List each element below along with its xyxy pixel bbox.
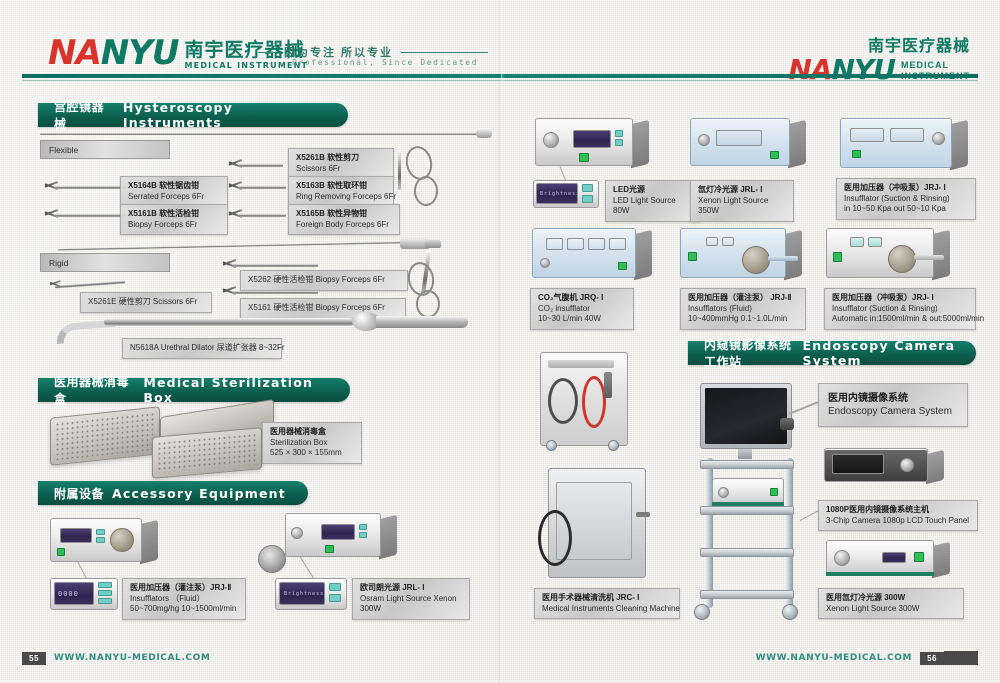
led-detail-btn2[interactable] [582,195,593,203]
label-1080p-cn: 1080P医用内镜摄像系统主机 [826,505,970,516]
device-xenon-knob[interactable] [698,134,710,146]
device-fluid2-screen2 [722,237,734,246]
device-fluid2-pump-drum[interactable] [742,246,770,274]
device-xenon300-side [932,542,950,578]
device-insufflator-power-led[interactable] [57,548,65,556]
label-suction2-cn: 医用加压器（冲吸泵）JRJ- I [832,293,968,304]
device-osram-btn2[interactable] [359,532,367,538]
device-osram-panel-detail: Brightness 100 [275,578,347,610]
label-n5618a: N5618A Urethral Dilator 尿道扩张器 8~32Fr [122,338,282,359]
instrument-shaft-rigid-biopsy2 [232,291,318,294]
handle-ring-lower3 [416,290,440,318]
rigid-scope-eyepiece [425,240,441,248]
label-cleaning-cn: 医用手术器械清洗机 JRC- I [542,593,672,604]
label-x5165b-en: Foreign Body Forceps 6Fr [296,220,392,231]
device-led-panel-detail: Brightness 100 [533,180,599,208]
flexible-scope-tip [476,129,492,138]
panel-detail-btn2[interactable] [98,590,112,596]
device-suction1-knob[interactable] [932,132,945,145]
label-suction2-spec: Automatic in:1500ml/min & out:5000ml/min [832,314,968,325]
label-led-en: LED Light Source [613,196,693,207]
label-cleaning-machine: 医用手术器械清洗机 JRC- I Medical Instruments Cle… [534,588,680,619]
camera-cart-camera-unit [712,478,784,506]
device-suction1-side [950,120,968,170]
osram-detail-screen: Brightness 100 [279,582,325,605]
page-gutter [498,0,504,683]
handle-arm-left [398,150,401,190]
device-xenon-light-source [690,118,790,166]
osram-brightness-label: Brightness [284,591,324,597]
cleaning-machine-hose [538,510,572,566]
label-sterilization-cn: 医用器械消毒盒 [270,427,354,438]
banner-cn-camera: 内窥镜影像系统工作站 [704,336,795,370]
sterilization-box-tray [152,427,262,479]
label-xenon-light-source: 氙灯冷光源 JRL- I Xenon Light Source 350W [690,180,794,222]
label-camera-system-cn: 医用内镜摄像系统 [828,392,958,405]
label-x5163b-en: Ring Removing Forceps 6Fr [296,192,386,203]
device-co2-screen4 [609,238,626,250]
label-fluid2-spec: 10~400mmHg 0.1~1.0L/min [688,314,798,325]
label-x5164b-cn: X5164B 软性锯齿钳 [128,181,220,192]
logo-wordmark: NANYU [48,36,179,70]
footer-left: 55 WWW.NANYU-MEDICAL.COM [22,651,210,665]
device-xenon-power-led[interactable] [770,151,779,159]
label-x5161b: X5161B 软性活检钳 Biopsy Forceps 6Fr [120,204,228,235]
osram-brightness-value: 100 [324,590,325,598]
handle-ring-lower [414,176,438,206]
slogan-rule-right [401,52,488,53]
device-insufflator-fluid-2 [680,228,786,278]
instrument-jaw-rigid-scissors [49,279,60,289]
cleaning-trolley-gun [604,372,612,398]
cleaning-trolley-caster-right [608,440,619,451]
label-1080p-en: 3-Chip Camera 1080p LCD Touch Panel [826,516,970,527]
label-xenon-cn: 氙灯冷光源 JRL- I [698,185,786,196]
camera-cart-monitor-neck [738,449,752,459]
label-insufflator-fluid-cn: 医用加压器（灌注泵）JRJ-Ⅱ [130,583,238,594]
label-suction2-en: Insufflator (Suction & Rinsing) [832,304,968,315]
device-xenon-side [788,120,806,168]
device-insufflator-panel-detail: 0000 [50,578,118,610]
device-led-btn2[interactable] [615,139,623,146]
device-insufflator-drum[interactable] [110,528,134,552]
device-1080p-camera-unit [824,448,928,482]
device-co2-power-led[interactable] [618,262,627,270]
device-osram-btn1[interactable] [359,524,367,530]
label-x5165b: X5165B 软性异物钳 Foreign Body Forceps 6Fr [288,204,400,235]
page-number-right: 56 [920,652,944,665]
label-xenon300-en: Xenon Light Source 300W [826,604,956,615]
banner-cn-hysteroscopy: 宫腔镜器械 [54,98,115,132]
section-banner-hysteroscopy: 宫腔镜器械 Hysteroscopy Instruments [38,103,348,127]
label-sterilization-en: Sterilization Box [270,438,354,449]
device-xenon300-knob[interactable] [834,550,850,566]
device-insufflator-screen [60,528,92,543]
label-x5262: X5262 硬性活检钳 Biopsy Forceps 6Fr [240,270,408,291]
device-xenon300-power-led[interactable] [914,552,924,562]
banner-en-hysteroscopy: Hysteroscopy Instruments [123,100,332,130]
camera-cart-monitor [700,383,792,449]
cleaning-machine-handle[interactable] [636,512,650,517]
device-fluid2-tube [768,256,798,261]
device-suction2-pump-drum[interactable] [888,245,916,273]
label-co2-cn: CO₂气腹机 JRQ- I [538,293,626,304]
logo-left-sub: MEDICAL INSTRUMENT [185,61,309,70]
label-insufflator-fluid-spec: 50~700mg/hg 10~1500ml/min [130,604,238,615]
footer-right: WWW.NANYU-MEDICAL.COM 56 [756,651,978,665]
sterilization-box-closed [50,406,160,466]
device-led-side [631,120,649,168]
footer-right-bar-tail [944,651,978,665]
camera-cart-shelf-4 [700,590,794,599]
device-osram-side [379,515,397,559]
device-co2-screen3 [588,238,605,250]
label-xenon-spec: 350W [698,206,786,217]
label-xenon300-cn: 医用氙灯冷光源 300W [826,593,956,604]
label-suction1-spec: in 10~50 Kpa out 50~10 Kpa [844,204,968,215]
device-suction2-screen1 [850,237,864,247]
label-fluid2-cn: 医用加压器（灌注泵） JRJ-Ⅱ [688,293,798,304]
label-sterilization-box: 医用器械消毒盒 Sterilization Box 525 × 300 × 15… [262,422,362,464]
footer-url-left[interactable]: WWW.NANYU-MEDICAL.COM [54,653,211,663]
cart-camera-accent [712,502,784,506]
label-cleaning-en: Medical Instruments Cleaning Machine [542,604,672,615]
label-x5261b-en: Scissors 6Fr [296,164,386,175]
device-osram-knob[interactable] [291,527,303,539]
device-osram-power-led[interactable] [325,545,334,553]
device-co2-insufflator [532,228,636,278]
label-suction1-en: Insufflator (Suction & Rinsing) [844,194,968,205]
cleaning-trolley-panel [548,360,614,368]
label-endoscopy-camera-system: 医用内镜摄像系统 Endoscopy Camera System [818,383,968,427]
device-xenon-screen [716,130,762,146]
sterilization-tray-perforation [157,433,257,474]
label-x5164b: X5164B 软性锯齿钳 Serrated Forceps 6Fr [120,176,228,207]
instrument-shaft-biopsy-flex [54,214,126,217]
panel-detail-readout: 0000 [58,590,79,598]
device-xenon300-screen [882,552,906,563]
device-co2-front [532,228,636,278]
cleaning-trolley-hose-gray [548,378,578,424]
device-insufflator-fluid [50,518,142,562]
cart-camera-led[interactable] [770,488,778,496]
device-led-screen [573,130,611,148]
label-insufflator-fluid-2: 医用加压器（灌注泵） JRJ-Ⅱ Insufflators (Fluid) 10… [680,288,806,330]
sterilization-box-perforation [55,412,155,461]
device-insufflator-suction-2 [826,228,934,278]
device-led-btn1[interactable] [615,130,623,137]
label-co2-en: CO₂ insufflator [538,304,626,315]
camera-cart-caster-left [694,604,710,620]
device-xenon300-accent [826,572,934,576]
device-suction1-power-led[interactable] [852,150,861,158]
instrument-shaft-ring [238,186,286,189]
section-banner-accessory: 附属设备 Accessory Equipment [38,481,308,505]
osram-detail-btn1[interactable] [329,583,341,591]
cleaning-trolley-hose-red [582,376,606,428]
led-brightness-label: Brightness [540,191,578,197]
label-sterilization-spec: 525 × 300 × 155mm [270,448,354,459]
category-flexible-label: Flexible [49,145,78,155]
category-flexible: Flexible [40,140,170,159]
device-insufflator-suction-1 [840,118,952,168]
camera-cart-shelf-3 [700,548,794,557]
category-rigid-label: Rigid [49,258,68,268]
label-osram-cn: 欧司朗光源 JRL- I [360,583,462,594]
device-suction1-screen2 [890,128,924,142]
panel-detail-btn3[interactable] [98,598,112,604]
device-1080p-touch-panel[interactable] [832,454,884,474]
label-xenon-en: Xenon Light Source [698,196,786,207]
instrument-shaft-rigid-biopsy1 [232,264,318,267]
device-suction2-tube [914,255,944,260]
label-x5163b-cn: X5163B 软性取环钳 [296,181,386,192]
device-insufflator-btn1[interactable] [96,529,105,535]
label-n5618a-text: N5618A Urethral Dilator 尿道扩张器 8~32Fr [130,343,274,354]
device-fluid2-side [784,230,802,280]
rigid-scope-shaft [58,241,408,250]
cleaning-trolley-caster-left [546,440,557,451]
label-x5165b-cn: X5165B 软性异物钳 [296,209,392,220]
device-co2-screen2 [567,238,584,250]
device-osram-screen [321,524,355,540]
device-suction2-screen2 [868,237,882,247]
label-xenon-300w: 医用氙灯冷光源 300W Xenon Light Source 300W [818,588,964,619]
label-insufflator-suction-1: 医用加压器（冲吸泵）JRJ- I Insufflator (Suction & … [836,178,976,220]
label-x5164b-en: Serrated Forceps 6Fr [128,192,220,203]
device-led-power-led[interactable] [579,153,589,162]
label-suction1-cn: 医用加压器（冲吸泵）JRJ- I [844,183,968,194]
led-detail-screen: Brightness 100 [536,183,578,204]
camera-cart-shelf-1 [700,460,794,469]
label-x5163b: X5163B 软性取环钳 Ring Removing Forceps 6Fr [288,176,394,207]
label-x5262-text: X5262 硬性活检钳 Biopsy Forceps 6Fr [248,275,400,286]
device-suction1-screen1 [850,128,884,142]
device-led-knob[interactable] [543,132,559,148]
label-x5261b-cn: X5261B 软性剪刀 [296,153,386,164]
device-co2-knob[interactable] [540,258,550,268]
device-1080p-side [926,450,944,484]
slogan-rule-left [258,52,276,53]
logo-right-wordmark: NANYU [788,53,895,86]
label-insufflator-suction-2: 医用加压器（冲吸泵）JRJ- I Insufflator (Suction & … [824,288,976,330]
device-fluid2-screen1 [706,237,718,246]
camera-cart-post-right [786,458,793,608]
camera-cart-caster-right [782,604,798,620]
page-number-left: 55 [22,652,46,665]
instrument-shaft-rigid-scissors [55,281,125,289]
led-detail-btn1[interactable] [582,184,593,192]
section-banner-camera-system: 内窥镜影像系统工作站 Endoscopy Camera System [688,341,976,365]
label-co2-insufflator: CO₂气腹机 JRQ- I CO₂ insufflator 10~30 L/mi… [530,288,634,330]
panel-detail-screen: 0000 [54,582,94,605]
label-led-cn: LED光源 [613,185,693,196]
label-insufflator-fluid: 医用加压器（灌注泵）JRJ-Ⅱ Insufflators （Fluid） 50~… [122,578,246,620]
cart-camera-knob[interactable] [718,487,729,498]
section-banner-sterilization: 医用器械消毒盒 Medical Sterilization Box [38,378,350,402]
device-insufflator-btn2[interactable] [96,537,105,543]
lamp-module-icon [258,545,286,573]
device-xenon-300w [826,540,934,576]
logo-wordmark-text: NANYU [48,33,179,73]
catalog-page: NANYU 南宇医疗器械 MEDICAL INSTRUMENT 因为专注 所以专… [0,0,1000,683]
banner-en-sterilization: Medical Sterilization Box [143,375,334,405]
label-fluid2-en: Insufflators (Fluid) [688,304,798,315]
slogan-en: Professional, Since Dedicated [292,58,478,67]
banner-en-accessory: Accessory Equipment [112,486,286,501]
label-insufflator-fluid-en: Insufflators （Fluid） [130,594,238,605]
osram-detail-btn2[interactable] [329,594,341,602]
camera-cart-monitor-screen [705,388,787,444]
instrument-shaft-foreign [238,214,286,217]
device-fluid2-power-led[interactable] [688,252,697,261]
label-osram-light-source: 欧司朗光源 JRL- I Osram Light Source Xenon 30… [352,578,470,620]
camera-cart-shelf-2 [700,506,794,515]
label-x5261b: X5261B 软性剪刀 Scissors 6Fr [288,148,394,179]
panel-detail-btn1[interactable] [98,582,112,588]
label-osram-spec: 300W [360,604,462,615]
label-led-light-source: LED光源 LED Light Source 80W [605,180,701,222]
instrument-shaft-serrated [54,186,126,189]
label-led-spec: 80W [613,206,693,217]
device-co2-side [634,230,652,280]
device-1080p-knob[interactable] [900,458,914,472]
category-rigid: Rigid [40,253,170,272]
camera-head [780,418,794,430]
flexible-scope-shaft [40,133,480,135]
footer-url-right[interactable]: WWW.NANYU-MEDICAL.COM [756,653,913,663]
device-suction2-front [826,228,934,278]
device-co2-screen1 [546,238,563,250]
label-osram-en: Osram Light Source Xenon [360,594,462,605]
banner-en-camera: Endoscopy Camera System [803,338,961,368]
device-led-light-source [535,118,633,166]
label-x5161b-cn: X5161B 软性活检钳 [128,209,220,220]
label-x5161b-en: Biopsy Forceps 6Fr [128,220,220,231]
device-suction2-power-led[interactable] [833,252,842,262]
instrument-shaft-scissors [238,164,283,167]
banner-cn-accessory: 附属设备 [54,485,104,502]
label-1080p-camera: 1080P医用内镜摄像系统主机 3-Chip Camera 1080p LCD … [818,500,978,531]
label-camera-system-en: Endoscopy Camera System [828,405,958,418]
device-osram-light-source [285,513,381,557]
logo-right-line1: MEDICAL [901,60,970,71]
banner-cn-sterilization: 医用器械消毒盒 [54,373,135,407]
label-co2-spec: 10~30 L/min 40W [538,314,626,325]
device-insufflator-side [140,520,158,564]
